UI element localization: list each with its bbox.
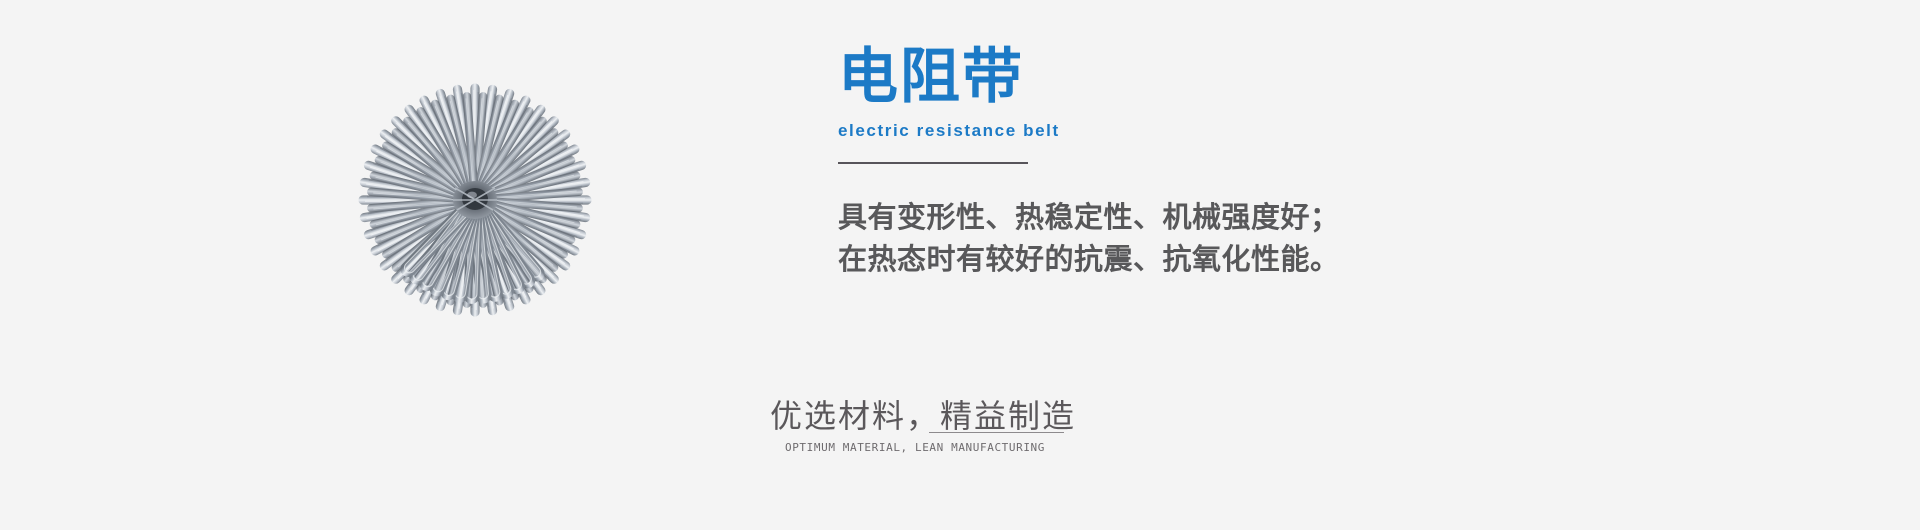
copy-block: 电阻带 electric resistance belt 具有变形性、热稳定性、… [838, 42, 1538, 280]
tagline-english: OPTIMUM MATERIAL, LEAN MANUFACTURING [770, 440, 1060, 455]
product-description: 具有变形性、热稳定性、机械强度好； 在热态时有较好的抗震、抗氧化性能。 [838, 196, 1538, 280]
hub [453, 181, 497, 219]
page-subtitle-english: electric resistance belt [838, 120, 1538, 142]
description-line-2: 在热态时有较好的抗震、抗氧化性能。 [838, 238, 1538, 280]
page-title: 电阻带 [838, 42, 1538, 112]
tagline-block: 优选材料，精益制造 OPTIMUM MATERIAL, LEAN MANUFAC… [770, 396, 1060, 455]
title-divider [838, 162, 1028, 164]
product-banner: 电阻带 electric resistance belt 具有变形性、热稳定性、… [0, 0, 1920, 530]
resistance-belt-illustration [295, 48, 655, 408]
description-line-1: 具有变形性、热稳定性、机械强度好； [838, 196, 1538, 238]
tagline-underline [929, 432, 1064, 433]
tagline-chinese-text: 优选材料，精益制造 [770, 397, 1076, 435]
product-image [295, 48, 655, 408]
tagline-chinese: 优选材料，精益制造 [770, 396, 1076, 436]
